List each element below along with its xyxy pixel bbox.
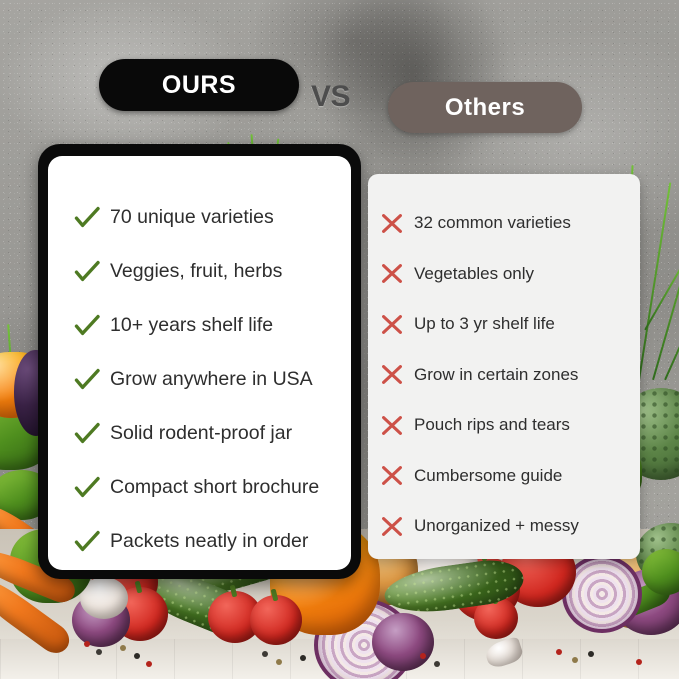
- check-icon: [74, 476, 100, 498]
- check-icon: [74, 260, 100, 282]
- ours-card: 70 unique varieties Veggies, fruit, herb…: [48, 156, 351, 570]
- peppercorn-3: [120, 645, 126, 651]
- others-badge: Others: [388, 82, 582, 133]
- list-item: 70 unique varieties: [74, 190, 351, 244]
- list-item-label: Grow anywhere in USA: [110, 368, 313, 391]
- peppercorn-7: [276, 659, 282, 665]
- check-icon: [74, 206, 100, 228]
- list-item-label: 10+ years shelf life: [110, 314, 273, 337]
- peppercorn-4: [134, 653, 140, 659]
- list-item-label: Compact short brochure: [110, 476, 319, 499]
- peppercorn-9: [420, 653, 426, 659]
- check-icon: [74, 530, 100, 552]
- others-card: 32 common varieties Vegetables only Up t…: [368, 174, 640, 559]
- cross-icon: [380, 516, 404, 537]
- list-item-label: 70 unique varieties: [110, 206, 274, 229]
- list-item-label: Packets neatly in order: [110, 530, 308, 553]
- cross-icon: [380, 263, 404, 284]
- list-item: Veggies, fruit, herbs: [74, 244, 351, 298]
- others-feature-list: 32 common varieties Vegetables only Up t…: [368, 174, 640, 552]
- cross-icon: [380, 415, 404, 436]
- list-item: Compact short brochure: [74, 460, 351, 514]
- peppercorn-2: [96, 649, 102, 655]
- list-item: Vegetables only: [380, 249, 640, 300]
- tomato-center-2: [250, 595, 302, 645]
- cross-icon: [380, 364, 404, 385]
- ours-badge: OURS: [99, 59, 299, 111]
- cross-icon: [380, 314, 404, 335]
- peppercorn-11: [556, 649, 562, 655]
- peppercorn-13: [588, 651, 594, 657]
- peppercorn-5: [146, 661, 152, 667]
- check-icon: [74, 314, 100, 336]
- ours-badge-label: OURS: [162, 71, 236, 100]
- list-item: Packets neatly in order: [74, 514, 351, 568]
- list-item: Up to 3 yr shelf life: [380, 299, 640, 350]
- others-badge-label: Others: [445, 94, 525, 122]
- list-item-label: Pouch rips and tears: [414, 415, 570, 435]
- list-item-label: Solid rodent-proof jar: [110, 422, 292, 445]
- list-item: Solid rodent-proof jar: [74, 406, 351, 460]
- list-item-label: 32 common varieties: [414, 213, 571, 233]
- list-item-label: Cumbersome guide: [414, 466, 562, 486]
- list-item: Grow anywhere in USA: [74, 352, 351, 406]
- list-item: 32 common varieties: [380, 198, 640, 249]
- peppercorn-12: [572, 657, 578, 663]
- vs-separator-label: VS: [311, 80, 350, 114]
- list-item: 10+ years shelf life: [74, 298, 351, 352]
- check-icon: [74, 422, 100, 444]
- ours-feature-list: 70 unique varieties Veggies, fruit, herb…: [48, 156, 351, 568]
- list-item-label: Grow in certain zones: [414, 365, 578, 385]
- peppercorn-10: [434, 661, 440, 667]
- peppercorn-14: [636, 659, 642, 665]
- list-item-label: Up to 3 yr shelf life: [414, 314, 555, 334]
- list-item: Grow in certain zones: [380, 350, 640, 401]
- cross-icon: [380, 213, 404, 234]
- comparison-infographic: OURS VS Others 70 unique varieties: [0, 0, 679, 679]
- list-item: Unorganized + messy: [380, 501, 640, 552]
- list-item-label: Veggies, fruit, herbs: [110, 260, 282, 283]
- peppercorn-1: [84, 641, 90, 647]
- cross-icon: [380, 465, 404, 486]
- list-item-label: Unorganized + messy: [414, 516, 579, 536]
- list-item: Cumbersome guide: [380, 451, 640, 502]
- list-item: Pouch rips and tears: [380, 400, 640, 451]
- check-icon: [74, 368, 100, 390]
- peppercorn-8: [300, 655, 306, 661]
- list-item-label: Vegetables only: [414, 264, 534, 284]
- peppercorn-6: [262, 651, 268, 657]
- onion-red-center: [372, 613, 434, 671]
